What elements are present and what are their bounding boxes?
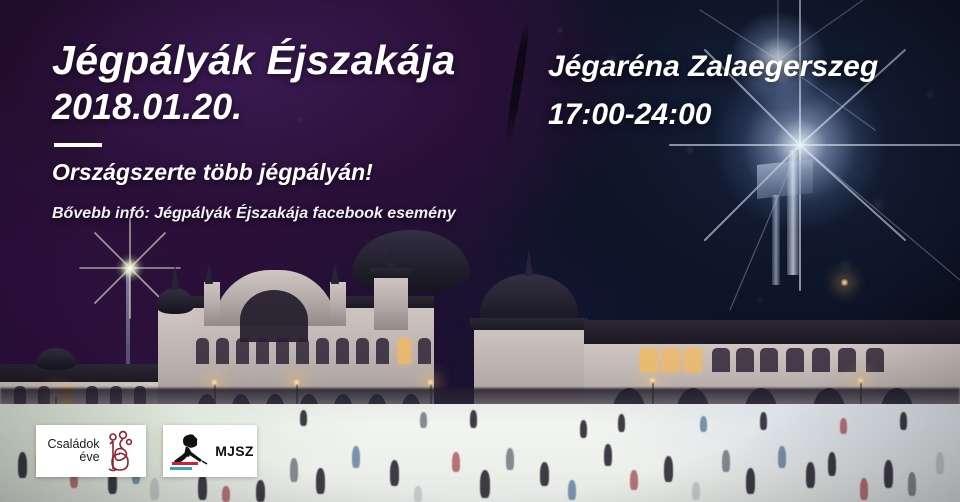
floodlight-mast	[787, 150, 799, 275]
event-date: 2018.01.20.	[52, 86, 532, 128]
logo-mjsz[interactable]: MJSZ	[163, 425, 257, 477]
csaladok-eve-wordmark: Családok éve	[47, 438, 99, 465]
venue-name: Jégaréna Zalaegerszeg	[548, 52, 948, 82]
lamp-post	[126, 268, 130, 416]
right-text-block: Jégaréna Zalaegerszeg 17:00-24:00	[548, 52, 948, 132]
floodlight-glow	[660, 0, 960, 310]
stylized-18-family-figures-icon	[105, 429, 135, 473]
logo-csaladok-eve[interactable]: Családok éve	[36, 425, 146, 477]
opening-hours: 17:00-24:00	[548, 98, 948, 132]
csaladok-line1: Családok	[47, 437, 99, 451]
more-info-line: Bővebb infó: Jégpályák Éjszakája faceboo…	[52, 205, 532, 223]
event-poster: Jégpályák Éjszakája 2018.01.20. Országsz…	[0, 0, 960, 502]
csaladok-line2: éve	[47, 451, 99, 465]
floodlight-mast-secondary	[772, 195, 780, 285]
floodlight-housing	[757, 159, 813, 199]
ice-rink-palace-building	[0, 236, 960, 436]
mjsz-wordmark: MJSZ	[215, 443, 254, 459]
divider-rule	[54, 143, 102, 147]
floodlight-rays-icon	[660, 0, 960, 310]
left-text-block: Jégpályák Éjszakája 2018.01.20. Országsz…	[52, 38, 532, 223]
lamp-rays-icon	[78, 216, 182, 320]
sponsor-logos: Családok éve	[36, 425, 257, 477]
poster-tagline: Országszerte több jégpályán!	[52, 159, 532, 186]
ice-hockey-player-icon	[166, 431, 210, 471]
lamp-starburst-icon	[84, 222, 176, 314]
poster-headline: Jégpályák Éjszakája	[52, 38, 532, 82]
crowd-band	[0, 388, 960, 422]
